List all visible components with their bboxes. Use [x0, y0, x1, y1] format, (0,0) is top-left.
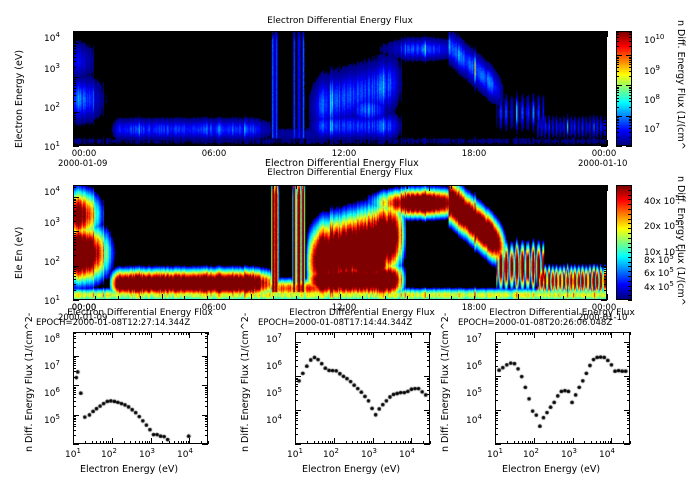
axis-tick	[181, 441, 182, 444]
axis-tick	[629, 95, 632, 96]
axis-tick	[627, 420, 630, 421]
axis-tick	[495, 366, 498, 367]
axis-tick	[616, 98, 619, 99]
axis-tick	[604, 271, 607, 272]
axis-tick	[616, 67, 619, 68]
axis-tick	[318, 332, 319, 335]
axis-tick	[73, 284, 76, 285]
axis-tick	[604, 255, 607, 256]
axis-tick	[73, 199, 76, 200]
panel2-cbtick-5: 4x 105	[644, 280, 674, 293]
axis-tick	[604, 276, 607, 277]
axis-tick	[184, 296, 185, 300]
spectrum2-x-axis-label: Electron Energy (eV)	[302, 464, 400, 475]
spectrum1-ytick-7: 107	[44, 359, 60, 372]
axis-tick	[352, 332, 353, 335]
axis-tick	[140, 142, 141, 146]
axis-tick	[73, 368, 76, 369]
axis-tick	[106, 441, 107, 444]
axis-tick	[369, 332, 370, 335]
axis-tick	[629, 125, 632, 126]
spectrum2-epoch: EPOCH=2000-01-08T17:14:44.344Z	[258, 318, 412, 328]
axis-tick	[451, 185, 452, 189]
axis-tick	[145, 332, 146, 335]
axis-tick	[295, 356, 298, 357]
spectrum2-y-axis-label: n Diff. Energy Flux (1/(cm^2-	[240, 313, 251, 452]
colorbar-tick	[628, 209, 632, 210]
axis-tick	[424, 342, 430, 343]
axis-tick	[563, 142, 564, 146]
axis-tick	[201, 441, 202, 444]
colorbar-tick	[628, 219, 632, 220]
axis-tick	[552, 332, 553, 335]
axis-tick	[112, 438, 113, 444]
axis-tick	[584, 332, 585, 335]
axis-tick	[295, 418, 298, 419]
axis-tick	[607, 140, 608, 146]
axis-tick	[92, 332, 93, 335]
colorbar-tick	[628, 190, 632, 191]
axis-tick	[604, 273, 607, 274]
axis-tick	[73, 81, 76, 82]
panel1-y-axis-label: Electron Energy (eV)	[14, 50, 25, 148]
axis-tick	[518, 441, 519, 444]
axis-tick	[140, 296, 141, 300]
axis-tick	[411, 438, 412, 444]
axis-tick	[73, 77, 79, 78]
axis-tick	[73, 347, 76, 348]
axis-tick	[295, 360, 298, 361]
axis-tick	[495, 332, 496, 338]
spectrum3-x-axis-label: Electron Energy (eV)	[502, 464, 600, 475]
colorbar-tick	[628, 204, 632, 205]
axis-tick	[145, 441, 146, 444]
axis-tick	[427, 347, 430, 348]
axis-tick	[616, 87, 619, 88]
axis-tick	[367, 332, 368, 335]
axis-tick	[295, 376, 301, 377]
axis-tick	[229, 31, 230, 35]
axis-tick	[495, 376, 501, 377]
axis-tick	[611, 438, 612, 444]
axis-tick	[495, 438, 496, 444]
axis-tick	[273, 31, 274, 35]
axis-tick	[604, 279, 607, 280]
axis-tick	[205, 419, 208, 420]
axis-tick	[616, 125, 619, 126]
axis-tick	[601, 77, 607, 78]
axis-tick	[607, 185, 608, 191]
panel1-colorbar-label: n Diff. Energy Flux (1/(cm^	[675, 20, 686, 150]
axis-tick	[629, 37, 632, 38]
axis-tick	[496, 142, 497, 146]
axis-tick	[207, 185, 208, 189]
axis-tick	[110, 441, 111, 444]
axis-tick	[295, 394, 298, 395]
spectrum1-epoch: EPOCH=2000-01-08T12:27:14.344Z	[36, 318, 190, 328]
axis-tick	[427, 381, 430, 382]
axis-tick	[325, 441, 326, 444]
axis-tick	[73, 267, 76, 268]
axis-tick	[629, 107, 632, 108]
axis-tick	[603, 441, 604, 444]
axis-tick	[73, 48, 76, 49]
axis-tick	[352, 441, 353, 444]
axis-tick	[629, 122, 632, 123]
axis-tick	[403, 441, 404, 444]
axis-tick	[73, 387, 76, 388]
axis-tick	[385, 31, 386, 35]
axis-tick	[616, 101, 619, 102]
axis-tick	[627, 378, 630, 379]
axis-tick	[205, 426, 208, 427]
axis-tick	[295, 381, 298, 382]
axis-tick	[495, 381, 498, 382]
axis-tick	[73, 255, 76, 256]
axis-tick	[604, 51, 607, 52]
axis-tick	[605, 441, 606, 444]
axis-tick	[573, 438, 574, 444]
axis-tick	[162, 294, 163, 300]
axis-tick	[561, 332, 562, 335]
axis-tick	[362, 296, 363, 300]
axis-tick	[142, 441, 143, 444]
colorbar-tick	[628, 223, 632, 224]
axis-tick	[567, 332, 568, 335]
axis-tick	[396, 441, 397, 444]
axis-tick	[184, 142, 185, 146]
axis-tick	[604, 53, 607, 54]
axis-tick	[361, 332, 362, 335]
axis-tick	[273, 185, 274, 189]
axis-tick	[184, 185, 185, 189]
axis-tick	[518, 140, 519, 146]
axis-tick	[563, 185, 564, 189]
axis-tick	[205, 397, 208, 398]
axis-tick	[495, 386, 498, 387]
axis-tick	[202, 415, 208, 416]
axis-tick	[96, 332, 97, 335]
axis-tick	[427, 412, 430, 413]
colorbar-tick	[628, 266, 632, 267]
axis-tick	[205, 421, 208, 422]
axis-tick	[73, 83, 76, 84]
axis-tick	[561, 441, 562, 444]
axis-tick	[616, 64, 619, 65]
axis-tick	[130, 441, 131, 444]
axis-tick	[604, 117, 607, 118]
axis-tick	[495, 344, 498, 345]
axis-tick	[403, 332, 404, 335]
axis-tick	[604, 46, 607, 47]
axis-tick	[205, 390, 208, 391]
axis-tick	[208, 332, 209, 335]
axis-tick	[205, 401, 208, 402]
axis-tick	[73, 392, 76, 393]
spectrum3-data-points	[496, 333, 630, 444]
axis-tick	[73, 197, 79, 198]
axis-tick	[73, 112, 79, 113]
axis-tick	[73, 363, 76, 364]
axis-tick	[495, 420, 498, 421]
axis-tick	[73, 377, 76, 378]
axis-tick	[407, 296, 408, 300]
axis-tick	[604, 113, 607, 114]
axis-tick	[518, 332, 519, 335]
axis-tick	[585, 31, 586, 35]
colorbar-tick	[628, 214, 632, 215]
axis-tick	[73, 388, 76, 389]
axis-tick	[627, 366, 630, 367]
axis-tick	[73, 424, 76, 425]
axis-tick	[296, 31, 297, 35]
axis-tick	[205, 342, 208, 343]
axis-tick	[162, 332, 163, 335]
axis-tick	[140, 185, 141, 189]
axis-tick	[626, 55, 632, 56]
axis-tick	[557, 441, 558, 444]
axis-tick	[604, 88, 607, 89]
axis-tick	[149, 332, 150, 335]
panel2-ytick-1: 101	[44, 294, 60, 307]
axis-tick	[604, 79, 607, 80]
axis-tick	[130, 332, 131, 335]
axis-tick	[73, 415, 79, 416]
axis-tick	[424, 444, 430, 445]
axis-tick	[328, 441, 329, 444]
axis-tick	[73, 221, 76, 222]
axis-tick	[295, 400, 298, 401]
axis-tick	[340, 294, 341, 300]
axis-tick	[147, 332, 148, 335]
axis-tick	[627, 415, 630, 416]
axis-tick	[251, 185, 252, 191]
axis-tick	[295, 390, 298, 391]
axis-tick	[391, 332, 392, 335]
axis-tick	[295, 413, 298, 414]
axis-tick	[530, 332, 531, 335]
axis-tick	[629, 46, 632, 47]
axis-tick	[616, 119, 619, 120]
spectrum3-xtick-2: 102	[523, 447, 539, 460]
axis-tick	[205, 361, 208, 362]
axis-tick	[495, 400, 498, 401]
axis-tick	[373, 332, 374, 338]
axis-tick	[591, 332, 592, 335]
axis-tick	[563, 296, 564, 300]
axis-tick	[616, 122, 619, 123]
axis-tick	[205, 336, 208, 337]
axis-tick	[604, 136, 607, 137]
axis-tick	[73, 122, 76, 123]
axis-tick	[495, 394, 498, 395]
axis-tick	[273, 296, 274, 300]
axis-tick	[604, 284, 607, 285]
axis-tick	[629, 90, 632, 91]
axis-tick	[629, 64, 632, 65]
axis-tick	[601, 231, 607, 232]
colorbar-tick	[628, 262, 632, 263]
axis-tick	[474, 142, 475, 146]
axis-tick	[604, 91, 607, 92]
axis-tick	[408, 441, 409, 444]
axis-tick	[400, 332, 401, 335]
axis-tick	[604, 235, 607, 236]
axis-tick	[474, 185, 475, 189]
axis-tick	[118, 31, 119, 35]
axis-tick	[518, 294, 519, 300]
panel1-x-axis-label: Electron Differential Energy Flux	[265, 158, 419, 169]
axis-tick	[73, 269, 76, 270]
axis-tick	[429, 140, 430, 146]
axis-tick	[604, 48, 607, 49]
axis-tick	[427, 378, 430, 379]
axis-tick	[73, 117, 76, 118]
axis-tick	[627, 386, 630, 387]
axis-tick	[451, 296, 452, 300]
axis-tick	[604, 57, 607, 58]
axis-tick	[307, 441, 308, 444]
axis-tick	[427, 434, 430, 435]
axis-tick	[427, 420, 430, 421]
axis-tick	[205, 371, 208, 372]
axis-tick	[495, 379, 498, 380]
axis-tick	[73, 113, 76, 114]
axis-tick	[624, 410, 630, 411]
axis-tick	[73, 140, 74, 146]
panel2-spectrogram-image	[74, 186, 606, 299]
spectrum1-ytick-8: 108	[44, 332, 60, 345]
axis-tick	[340, 31, 341, 37]
axis-tick	[295, 332, 296, 338]
axis-tick	[616, 90, 619, 91]
panel1-spectrogram-image	[74, 32, 606, 145]
axis-tick	[205, 430, 208, 431]
axis-tick	[369, 441, 370, 444]
axis-tick	[534, 332, 535, 338]
axis-tick	[162, 185, 163, 191]
axis-tick	[601, 146, 607, 147]
axis-tick	[330, 441, 331, 444]
axis-tick	[600, 441, 601, 444]
axis-tick	[229, 296, 230, 300]
axis-tick	[629, 88, 632, 89]
axis-tick	[73, 430, 76, 431]
spectrum1-data-points	[74, 333, 208, 444]
axis-tick	[604, 267, 607, 268]
axis-tick	[627, 390, 630, 391]
axis-tick	[295, 428, 298, 429]
axis-tick	[186, 332, 187, 335]
axis-tick	[178, 332, 179, 335]
axis-tick	[604, 207, 607, 208]
axis-tick	[616, 46, 619, 47]
axis-tick	[604, 269, 607, 270]
spectrum2-data-points	[296, 333, 430, 444]
axis-tick	[626, 116, 632, 117]
axis-tick	[407, 142, 408, 146]
axis-tick	[630, 441, 631, 444]
axis-tick	[295, 366, 298, 367]
axis-tick	[616, 71, 619, 72]
axis-tick	[295, 379, 298, 380]
axis-tick	[605, 332, 606, 335]
axis-tick	[73, 79, 76, 80]
axis-tick	[427, 386, 430, 387]
colorbar-tick	[628, 271, 632, 272]
axis-tick	[495, 444, 501, 445]
axis-tick	[396, 332, 397, 335]
axis-tick	[616, 58, 619, 59]
spectrum2-ytick-5: 105	[266, 386, 282, 399]
axis-tick	[601, 197, 607, 198]
panel1-cbtick-8: 108	[644, 93, 660, 106]
axis-tick	[295, 350, 298, 351]
axis-tick	[361, 441, 362, 444]
axis-tick	[427, 415, 430, 416]
axis-tick	[73, 115, 76, 116]
axis-tick	[616, 32, 619, 33]
axis-tick	[405, 332, 406, 335]
axis-tick	[495, 418, 498, 419]
axis-tick	[73, 406, 76, 407]
axis-tick	[604, 83, 607, 84]
axis-tick	[73, 202, 76, 203]
axis-tick	[532, 332, 533, 335]
axis-tick	[495, 390, 498, 391]
axis-tick	[73, 61, 76, 62]
axis-tick	[451, 31, 452, 35]
axis-tick	[205, 377, 208, 378]
axis-tick	[318, 441, 319, 444]
axis-tick	[407, 185, 408, 189]
axis-tick	[295, 444, 301, 445]
axis-tick	[624, 376, 630, 377]
axis-tick	[295, 386, 298, 387]
axis-tick	[604, 125, 607, 126]
axis-tick	[181, 332, 182, 335]
axis-tick	[162, 140, 163, 146]
axis-tick	[514, 332, 515, 335]
axis-tick	[604, 81, 607, 82]
panel1-ytick-1: 101	[44, 140, 60, 153]
axis-tick	[103, 441, 104, 444]
axis-tick	[124, 332, 125, 335]
axis-tick	[295, 410, 301, 411]
axis-tick	[495, 360, 498, 361]
axis-tick	[552, 441, 553, 444]
axis-tick	[95, 142, 96, 146]
axis-tick	[427, 413, 430, 414]
colorbar-tick	[628, 295, 632, 296]
axis-tick	[629, 119, 632, 120]
axis-tick	[629, 98, 632, 99]
axis-tick	[585, 142, 586, 146]
spectrum2-title: Electron Differential Energy Flux	[262, 308, 462, 318]
axis-tick	[627, 381, 630, 382]
axis-tick	[95, 296, 96, 300]
axis-tick	[629, 60, 632, 61]
axis-tick	[627, 379, 630, 380]
axis-tick	[92, 441, 93, 444]
axis-tick	[427, 352, 430, 353]
axis-tick	[495, 424, 498, 425]
axis-tick	[205, 435, 208, 436]
axis-tick	[604, 85, 607, 86]
panel1-cbtick-10: 1010	[644, 33, 664, 46]
colorbar-tick	[628, 228, 632, 229]
axis-tick	[73, 231, 79, 232]
